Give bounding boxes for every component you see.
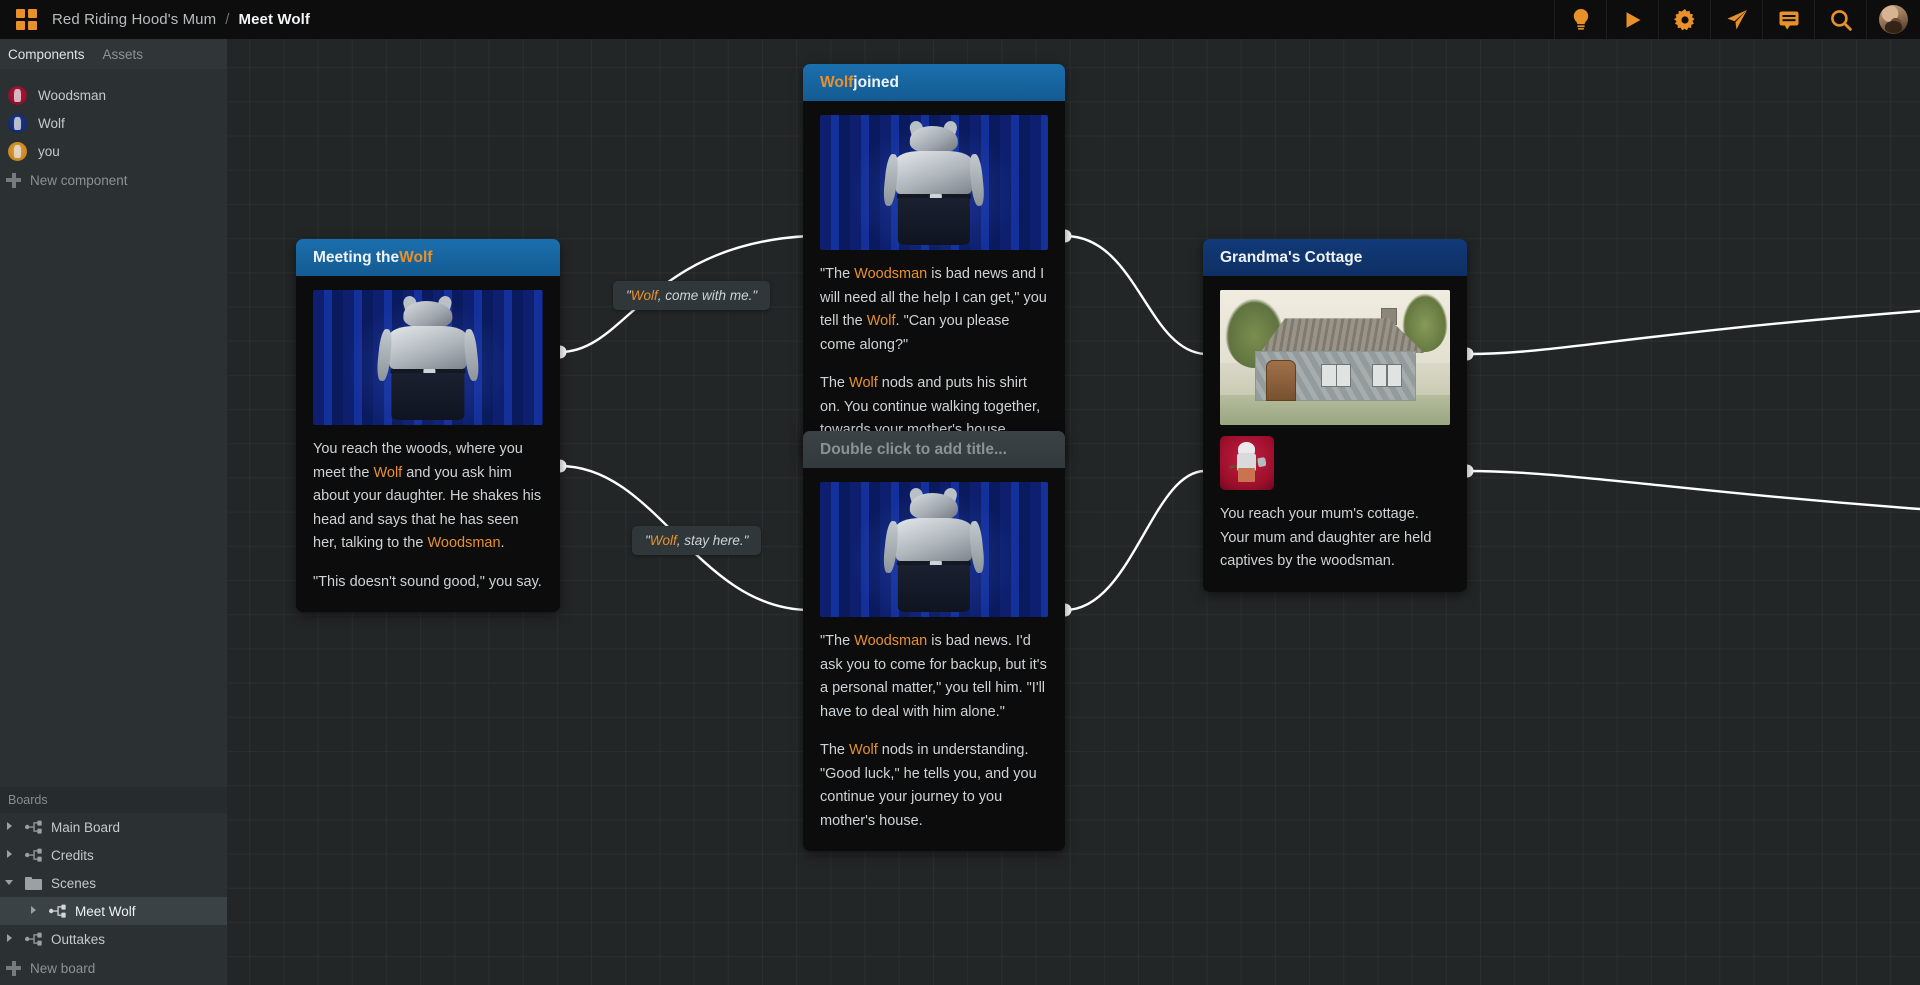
story-card-untitled[interactable]: Double click to add title... "The Woodsm… — [803, 431, 1065, 851]
paragraph-text: you say. — [485, 574, 542, 590]
components-list: Woodsman Wolf you New component — [0, 69, 227, 195]
card-paragraph[interactable]: You reach your mum's cottage. Your mum a… — [1220, 503, 1450, 574]
search-icon[interactable] — [1814, 0, 1866, 39]
card-paragraph[interactable]: "The Woodsman is bad news and I will nee… — [820, 263, 1048, 357]
woodsman-thumbnail[interactable] — [1220, 436, 1274, 490]
grid-logo-icon[interactable] — [0, 0, 52, 39]
component-item-woodsman[interactable]: Woodsman — [0, 81, 227, 109]
board-label: Credits — [51, 848, 94, 863]
paragraph-text: . — [501, 535, 505, 551]
board-icon — [25, 932, 42, 946]
card-title-text: joined — [853, 74, 899, 92]
card-paragraph[interactable]: The Wolf nods in understanding. "Good lu… — [820, 739, 1048, 833]
chevron-right-icon[interactable] — [30, 906, 40, 916]
paragraph-quote: "The — [820, 266, 854, 282]
board-icon — [25, 820, 42, 834]
send-icon[interactable] — [1710, 0, 1762, 39]
card-paragraph[interactable]: "This doesn't sound good," you say. — [313, 571, 543, 595]
wolf-forest-image[interactable] — [313, 290, 543, 425]
card-body: "The Woodsman is bad news and I will nee… — [803, 101, 1065, 461]
play-icon[interactable] — [1606, 0, 1658, 39]
component-mention-wolf: Wolf — [631, 288, 658, 303]
wolf-forest-image[interactable] — [820, 482, 1048, 617]
card-body: "The Woodsman is bad news. I'd ask you t… — [803, 468, 1065, 851]
woodsman-avatar-icon — [8, 86, 27, 105]
breadcrumb: Red Riding Hood's Mum / Meet Wolf — [52, 11, 310, 28]
you-avatar-icon — [8, 142, 27, 161]
new-component-button[interactable]: New component — [0, 165, 227, 195]
chevron-right-icon[interactable] — [6, 934, 16, 944]
edge-label-text: , stay here." — [677, 533, 749, 548]
component-mention-woodsman: Woodsman — [854, 266, 927, 282]
board-canvas[interactable]: Meeting the Wolf You reach the woods, wh… — [227, 39, 1920, 985]
card-body: You reach your mum's cottage. Your mum a… — [1203, 276, 1467, 592]
chevron-down-icon[interactable] — [6, 878, 16, 888]
boards-list: Main Board Credits Scenes Meet Wolf Outt… — [0, 813, 227, 985]
tab-components[interactable]: Components — [8, 47, 85, 62]
paragraph-quote: "The — [820, 633, 854, 649]
paragraph-quote: "This doesn't sound good," — [313, 574, 485, 590]
paragraph-quote: "Good luck," — [820, 766, 900, 782]
board-item-credits[interactable]: Credits — [0, 841, 227, 869]
paragraph-text: The — [820, 742, 849, 758]
story-card-meeting-the-wolf[interactable]: Meeting the Wolf You reach the woods, wh… — [296, 239, 560, 612]
card-body: You reach the woods, where you meet the … — [296, 276, 560, 612]
board-item-scenes[interactable]: Scenes — [0, 869, 227, 897]
lightbulb-icon[interactable] — [1554, 0, 1606, 39]
component-mention-wolf: Wolf — [650, 533, 677, 548]
card-title-text: Meeting the — [313, 249, 399, 267]
component-label: Wolf — [38, 116, 65, 131]
board-item-outtakes[interactable]: Outtakes — [0, 925, 227, 953]
component-label: you — [38, 144, 60, 159]
card-paragraph[interactable]: "The Woodsman is bad news. I'd ask you t… — [820, 630, 1048, 724]
component-mention-woodsman: Woodsman — [427, 535, 500, 551]
component-mention-wolf: Wolf — [867, 313, 896, 329]
new-component-label: New component — [30, 173, 128, 188]
boards-section-label: Boards — [8, 793, 48, 807]
paragraph-text: The — [820, 375, 849, 391]
breadcrumb-project[interactable]: Red Riding Hood's Mum — [52, 11, 216, 28]
board-icon — [49, 904, 66, 918]
breadcrumb-separator: / — [225, 11, 229, 28]
top-bar-actions — [1554, 0, 1920, 39]
component-mention-wolf: Wolf — [849, 375, 878, 391]
chevron-right-icon[interactable] — [6, 822, 16, 832]
chat-icon[interactable] — [1762, 0, 1814, 39]
paragraph-text: nods in understanding. — [878, 742, 1029, 758]
board-label: Outtakes — [51, 932, 105, 947]
tab-assets[interactable]: Assets — [103, 47, 144, 62]
story-card-wolf-joined[interactable]: Wolf joined "The Woodsman is bad news an… — [803, 64, 1065, 461]
sidebar: Components Assets Woodsman Wolf you New … — [0, 39, 227, 985]
plus-icon — [6, 173, 21, 188]
component-label: Woodsman — [38, 88, 106, 103]
board-label: Main Board — [51, 820, 120, 835]
component-mention-wolf: Wolf — [849, 742, 878, 758]
board-label: Scenes — [51, 876, 96, 891]
card-title[interactable]: Wolf joined — [803, 64, 1065, 101]
card-title-placeholder[interactable]: Double click to add title... — [803, 431, 1065, 468]
component-item-wolf[interactable]: Wolf — [0, 109, 227, 137]
board-item-main-board[interactable]: Main Board — [0, 813, 227, 841]
boards-section-header: Boards — [0, 787, 227, 813]
top-bar: Red Riding Hood's Mum / Meet Wolf — [0, 0, 1920, 39]
card-title-highlight: Wolf — [820, 74, 853, 92]
board-label: Meet Wolf — [75, 904, 136, 919]
panel-tabs: Components Assets — [0, 39, 227, 69]
folder-icon — [25, 877, 42, 890]
edge-label-come-with-me[interactable]: "Wolf, come with me." — [613, 281, 770, 310]
card-title-highlight: Wolf — [399, 249, 432, 267]
wolf-forest-image[interactable] — [820, 115, 1048, 250]
edge-label-stay-here[interactable]: "Wolf, stay here." — [632, 526, 761, 555]
sidebar-spacer — [0, 195, 227, 787]
card-title[interactable]: Grandma's Cottage — [1203, 239, 1467, 276]
paragraph-text: you tell him. — [941, 680, 1026, 696]
breadcrumb-current[interactable]: Meet Wolf — [238, 11, 309, 28]
gear-icon[interactable] — [1658, 0, 1710, 39]
wolf-avatar-icon — [8, 114, 27, 133]
paragraph-text: . — [896, 313, 904, 329]
new-board-button[interactable]: New board — [0, 953, 227, 983]
card-paragraph[interactable]: You reach the woods, where you meet the … — [313, 438, 543, 556]
component-mention-wolf: Wolf — [373, 465, 402, 481]
avatar[interactable] — [1866, 0, 1920, 39]
board-item-meet-wolf[interactable]: Meet Wolf — [0, 897, 227, 925]
new-board-label: New board — [30, 961, 95, 976]
cottage-image[interactable] — [1220, 290, 1450, 425]
component-mention-woodsman: Woodsman — [854, 633, 927, 649]
edge-label-text: , come with me." — [658, 288, 757, 303]
component-item-you[interactable]: you — [0, 137, 227, 165]
chevron-right-icon[interactable] — [6, 850, 16, 860]
board-icon — [25, 848, 42, 862]
plus-icon — [6, 961, 21, 976]
story-card-grandmas-cottage[interactable]: Grandma's Cottage You reach your mu — [1203, 239, 1467, 592]
card-title[interactable]: Meeting the Wolf — [296, 239, 560, 276]
